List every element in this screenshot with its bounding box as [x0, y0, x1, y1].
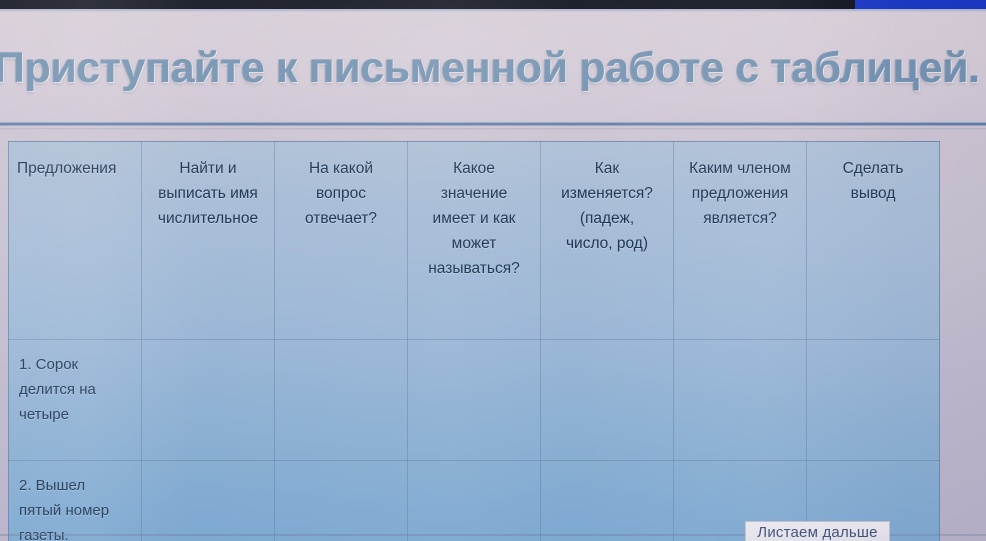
header-line: Как — [547, 156, 667, 181]
next-slide-button[interactable]: Листаем дальше — [745, 521, 890, 541]
sentence-line: пятый номер — [19, 498, 133, 523]
table-header-cell-sentences: Предложения — [9, 142, 142, 340]
header-line: Сделать — [813, 156, 933, 181]
cell-question[interactable] — [275, 340, 408, 461]
sentence-line: четыре — [19, 402, 133, 427]
window-top-bar-accent — [855, 0, 986, 9]
cell-sentence: 1. Сорок делится на четыре — [9, 340, 142, 461]
header-line: На какой — [281, 156, 401, 181]
next-slide-label: Листаем дальше — [757, 524, 877, 541]
table-header-cell-numeral: Найти и выписать имя числительное — [142, 142, 275, 340]
table-header-row: Предложения Найти и выписать имя числите… — [9, 142, 940, 340]
slide-title-band: Приступайте к письменной работе с таблиц… — [0, 12, 986, 124]
cell-changes[interactable] — [541, 340, 674, 461]
table-header-cell-member: Каким членом предложения является? — [674, 142, 807, 340]
header-line: вопрос — [281, 181, 401, 206]
table-header-cell-changes: Как изменяется? (падеж, число, род) — [541, 142, 674, 340]
table-row: 1. Сорок делится на четыре — [9, 340, 940, 461]
header-line: отвечает? — [281, 206, 401, 231]
cell-meaning[interactable] — [408, 340, 541, 461]
cell-sentence: 2. Вышел пятый номер газеты. — [9, 461, 142, 541]
header-line: изменяется? — [547, 181, 667, 206]
sentence-line: газеты. — [19, 523, 133, 541]
header-line: (падеж, — [547, 206, 667, 231]
worksheet-table-container: Предложения Найти и выписать имя числите… — [8, 141, 940, 541]
title-divider-shadow — [0, 128, 986, 130]
sentence-line: делится на — [19, 377, 133, 402]
cell-member[interactable] — [674, 340, 807, 461]
cell-meaning[interactable] — [408, 461, 541, 541]
window-top-bar-sheen — [0, 9, 986, 12]
slide-viewer: Приступайте к письменной работе с таблиц… — [0, 0, 986, 541]
title-divider — [0, 122, 986, 126]
header-line: число, род) — [547, 231, 667, 256]
cell-conclusion[interactable] — [807, 340, 940, 461]
header-line: может — [414, 231, 534, 256]
header-line: Найти и — [148, 156, 268, 181]
header-line: Каким членом — [680, 156, 800, 181]
table-header-cell-conclusion: Сделать вывод — [807, 142, 940, 340]
table-header-cell-meaning: Какое значение имеет и как может называт… — [408, 142, 541, 340]
header-line: имеет и как — [414, 206, 534, 231]
cell-numeral[interactable] — [142, 461, 275, 541]
footer-rule-left — [0, 534, 745, 536]
cell-numeral[interactable] — [142, 340, 275, 461]
header-line: вывод — [813, 181, 933, 206]
table-header-cell-question: На какой вопрос отвечает? — [275, 142, 408, 340]
sentence-line: 2. Вышел — [19, 473, 133, 498]
window-top-bar — [0, 0, 986, 9]
cell-changes[interactable] — [541, 461, 674, 541]
header-line: значение — [414, 181, 534, 206]
header-line: Какое — [414, 156, 534, 181]
worksheet-table: Предложения Найти и выписать имя числите… — [8, 141, 940, 541]
page-title: Приступайте к письменной работе с таблиц… — [0, 44, 980, 93]
header-line: является? — [680, 206, 800, 231]
sentence-line: 1. Сорок — [19, 352, 133, 377]
header-line: предложения — [680, 181, 800, 206]
header-line: числительное — [148, 206, 268, 231]
header-line: Предложения — [15, 156, 135, 181]
cell-question[interactable] — [275, 461, 408, 541]
header-line: называться? — [414, 256, 534, 281]
header-line: выписать имя — [148, 181, 268, 206]
footer-rule-right — [888, 534, 986, 536]
